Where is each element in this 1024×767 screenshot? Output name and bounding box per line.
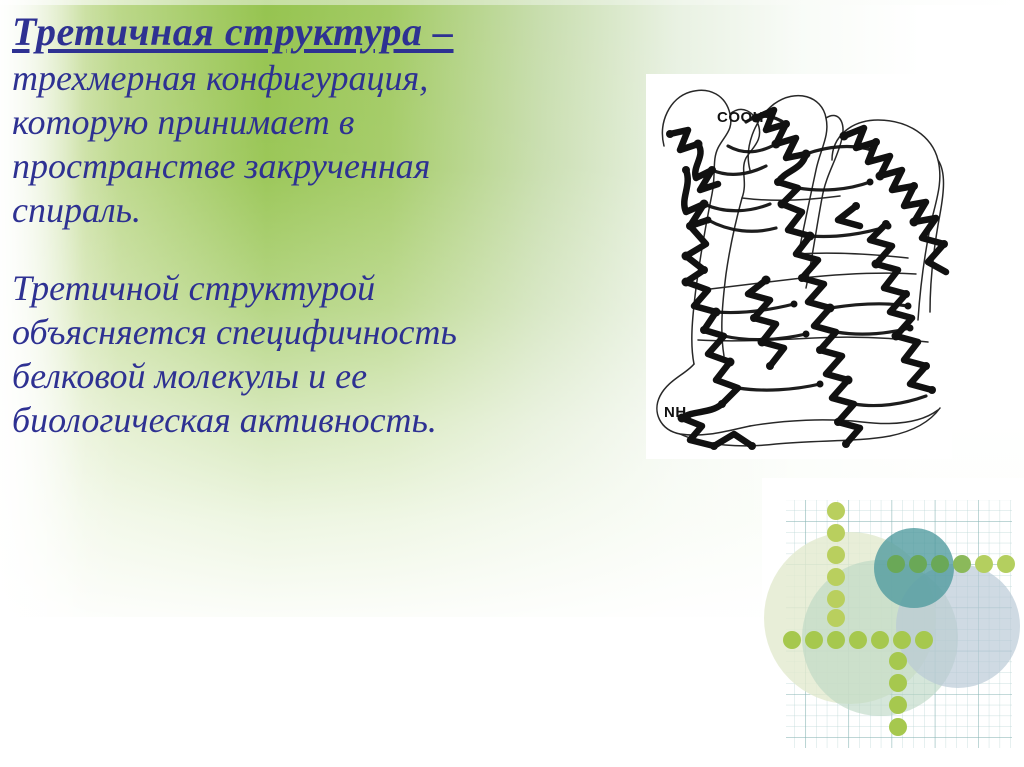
decorative-circles-and-dots: [762, 478, 1024, 767]
diagram-label-nh2: NH2: [664, 404, 693, 424]
paragraph-line: белковой молекулы и ее: [12, 355, 628, 399]
paragraph-line: биологическая активность.: [12, 399, 628, 443]
nh2-subscript: 2: [687, 413, 693, 424]
paragraph-line: которую принимает в: [12, 101, 628, 145]
paragraph-line: спираль.: [12, 189, 628, 233]
nh2-prefix: NH: [664, 404, 687, 421]
paragraph-line: Третичной структурой: [12, 267, 628, 311]
protein-chain-drawing: [646, 74, 952, 459]
paragraph-line: трехмерная конфигурация,: [12, 57, 628, 101]
paragraph-significance: Третичной структурой объясняется специфи…: [8, 267, 628, 443]
decorative-graphic: [762, 478, 1024, 767]
paragraph-line: пространстве закрученная: [12, 145, 628, 189]
slide-canvas: Третичная структура – трехмерная конфигу…: [0, 0, 1024, 767]
text-content-column: Третичная структура – трехмерная конфигу…: [8, 2, 628, 442]
diagram-label-cooh: COOH: [717, 109, 764, 126]
paragraph-definition: трехмерная конфигурация, которую принима…: [8, 57, 628, 233]
paragraph-line: объясняется специфичность: [12, 311, 628, 355]
page-title: Третичная структура –: [8, 2, 628, 55]
protein-structure-image: COOH NH2: [646, 74, 952, 459]
